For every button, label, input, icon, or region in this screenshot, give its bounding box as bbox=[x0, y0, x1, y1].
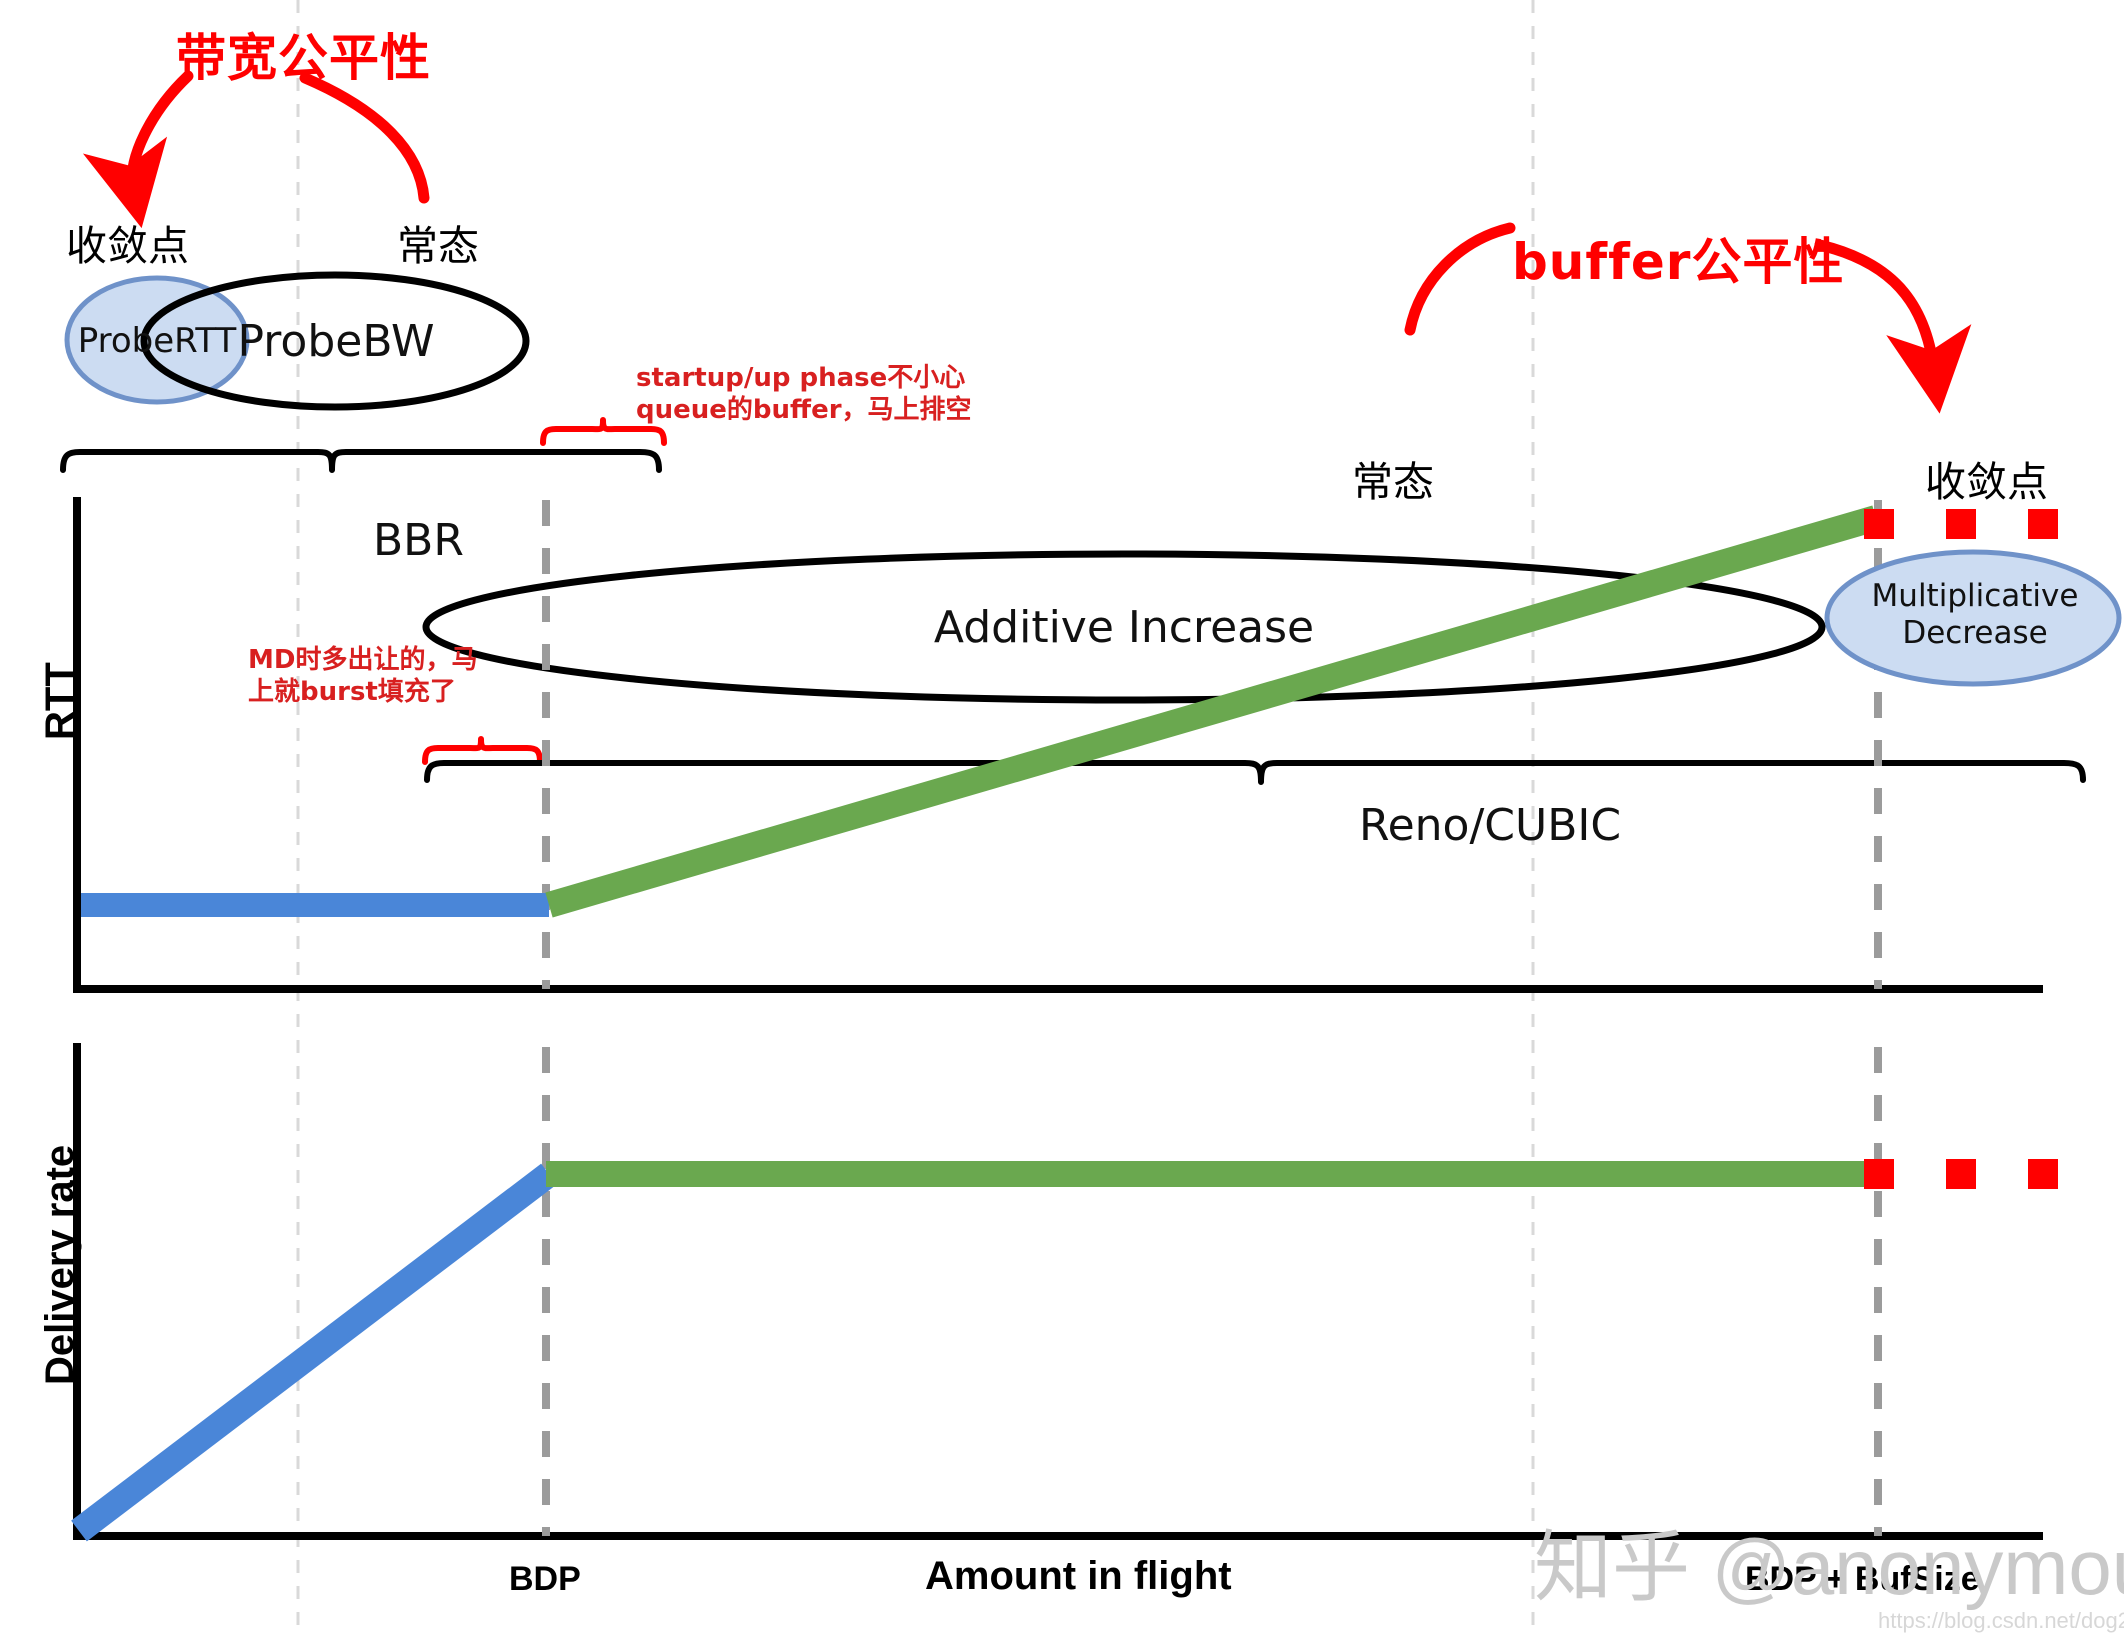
startup-phase-note: startup/up phase不小心 queue的buffer，马上排空 bbox=[636, 363, 972, 426]
startup-phase-note-line2: queue的buffer，马上排空 bbox=[636, 395, 972, 427]
additive-increase-label: Additive Increase bbox=[824, 600, 1424, 656]
bandwidth-fairness-label: 带宽公平性 bbox=[176, 18, 431, 90]
delivery-rate-axis-label: Delivery rate bbox=[38, 1145, 83, 1385]
bbr-bracket-label: BBR bbox=[373, 515, 464, 566]
bbr-bracket bbox=[63, 452, 659, 470]
watermark: 知乎 @anonymous bbox=[1534, 1505, 2124, 1617]
convergence-point-label-right: 收敛点 bbox=[1925, 448, 2048, 508]
probe-bw-label: ProbeBW bbox=[205, 315, 467, 369]
multiplicative-decrease-line1: Multiplicative bbox=[1836, 578, 2114, 615]
convergence-point-label-left: 收敛点 bbox=[66, 212, 189, 272]
steady-state-label-right: 常态 bbox=[1352, 448, 1434, 508]
reno-cubic-bracket bbox=[427, 763, 2083, 782]
multiplicative-decrease-label: Multiplicative Decrease bbox=[1836, 578, 2114, 652]
md-burst-note-line2: 上就burst填充了 bbox=[248, 677, 477, 709]
startup-phase-note-line1: startup/up phase不小心 bbox=[636, 363, 972, 395]
buffer-fairness-label: buffer公平性 bbox=[1512, 222, 1844, 294]
delivery-loss-marker-1 bbox=[1864, 1159, 1894, 1189]
steady-state-label-left: 常态 bbox=[397, 212, 479, 272]
source-url-watermark: https://blog.csdn.net/dog250 bbox=[1878, 1608, 2124, 1634]
rtt-loss-marker-1 bbox=[1864, 509, 1894, 539]
rtt-loss-marker-3 bbox=[2028, 509, 2058, 539]
delivery-loss-marker-2 bbox=[1946, 1159, 1976, 1189]
delivery-loss-marker-3 bbox=[2028, 1159, 2058, 1189]
bandwidth-fairness-arrow-left bbox=[132, 76, 188, 185]
md-burst-note: MD时多出让的，马 上就burst填充了 bbox=[248, 645, 477, 708]
rtt-axis-label: RTT bbox=[38, 662, 83, 740]
md-burst-bracket bbox=[425, 739, 540, 762]
x-axis-title: Amount in flight bbox=[925, 1554, 1232, 1599]
reno-cubic-bracket-label: Reno/CUBIC bbox=[1359, 800, 1621, 851]
diagram-canvas: 带宽公平性 收敛点 常态 ProbeRTT ProbeBW startup/up… bbox=[0, 0, 2124, 1632]
xtick-label-bdp: BDP bbox=[509, 1560, 581, 1599]
buffer-fairness-arrow-left bbox=[1410, 228, 1510, 330]
md-burst-note-line1: MD时多出让的，马 bbox=[248, 645, 477, 677]
multiplicative-decrease-line2: Decrease bbox=[1836, 615, 2114, 652]
delivery-series-startup-ramp bbox=[79, 1174, 549, 1531]
rtt-loss-marker-2 bbox=[1946, 509, 1976, 539]
bandwidth-fairness-arrow-right bbox=[305, 78, 424, 198]
